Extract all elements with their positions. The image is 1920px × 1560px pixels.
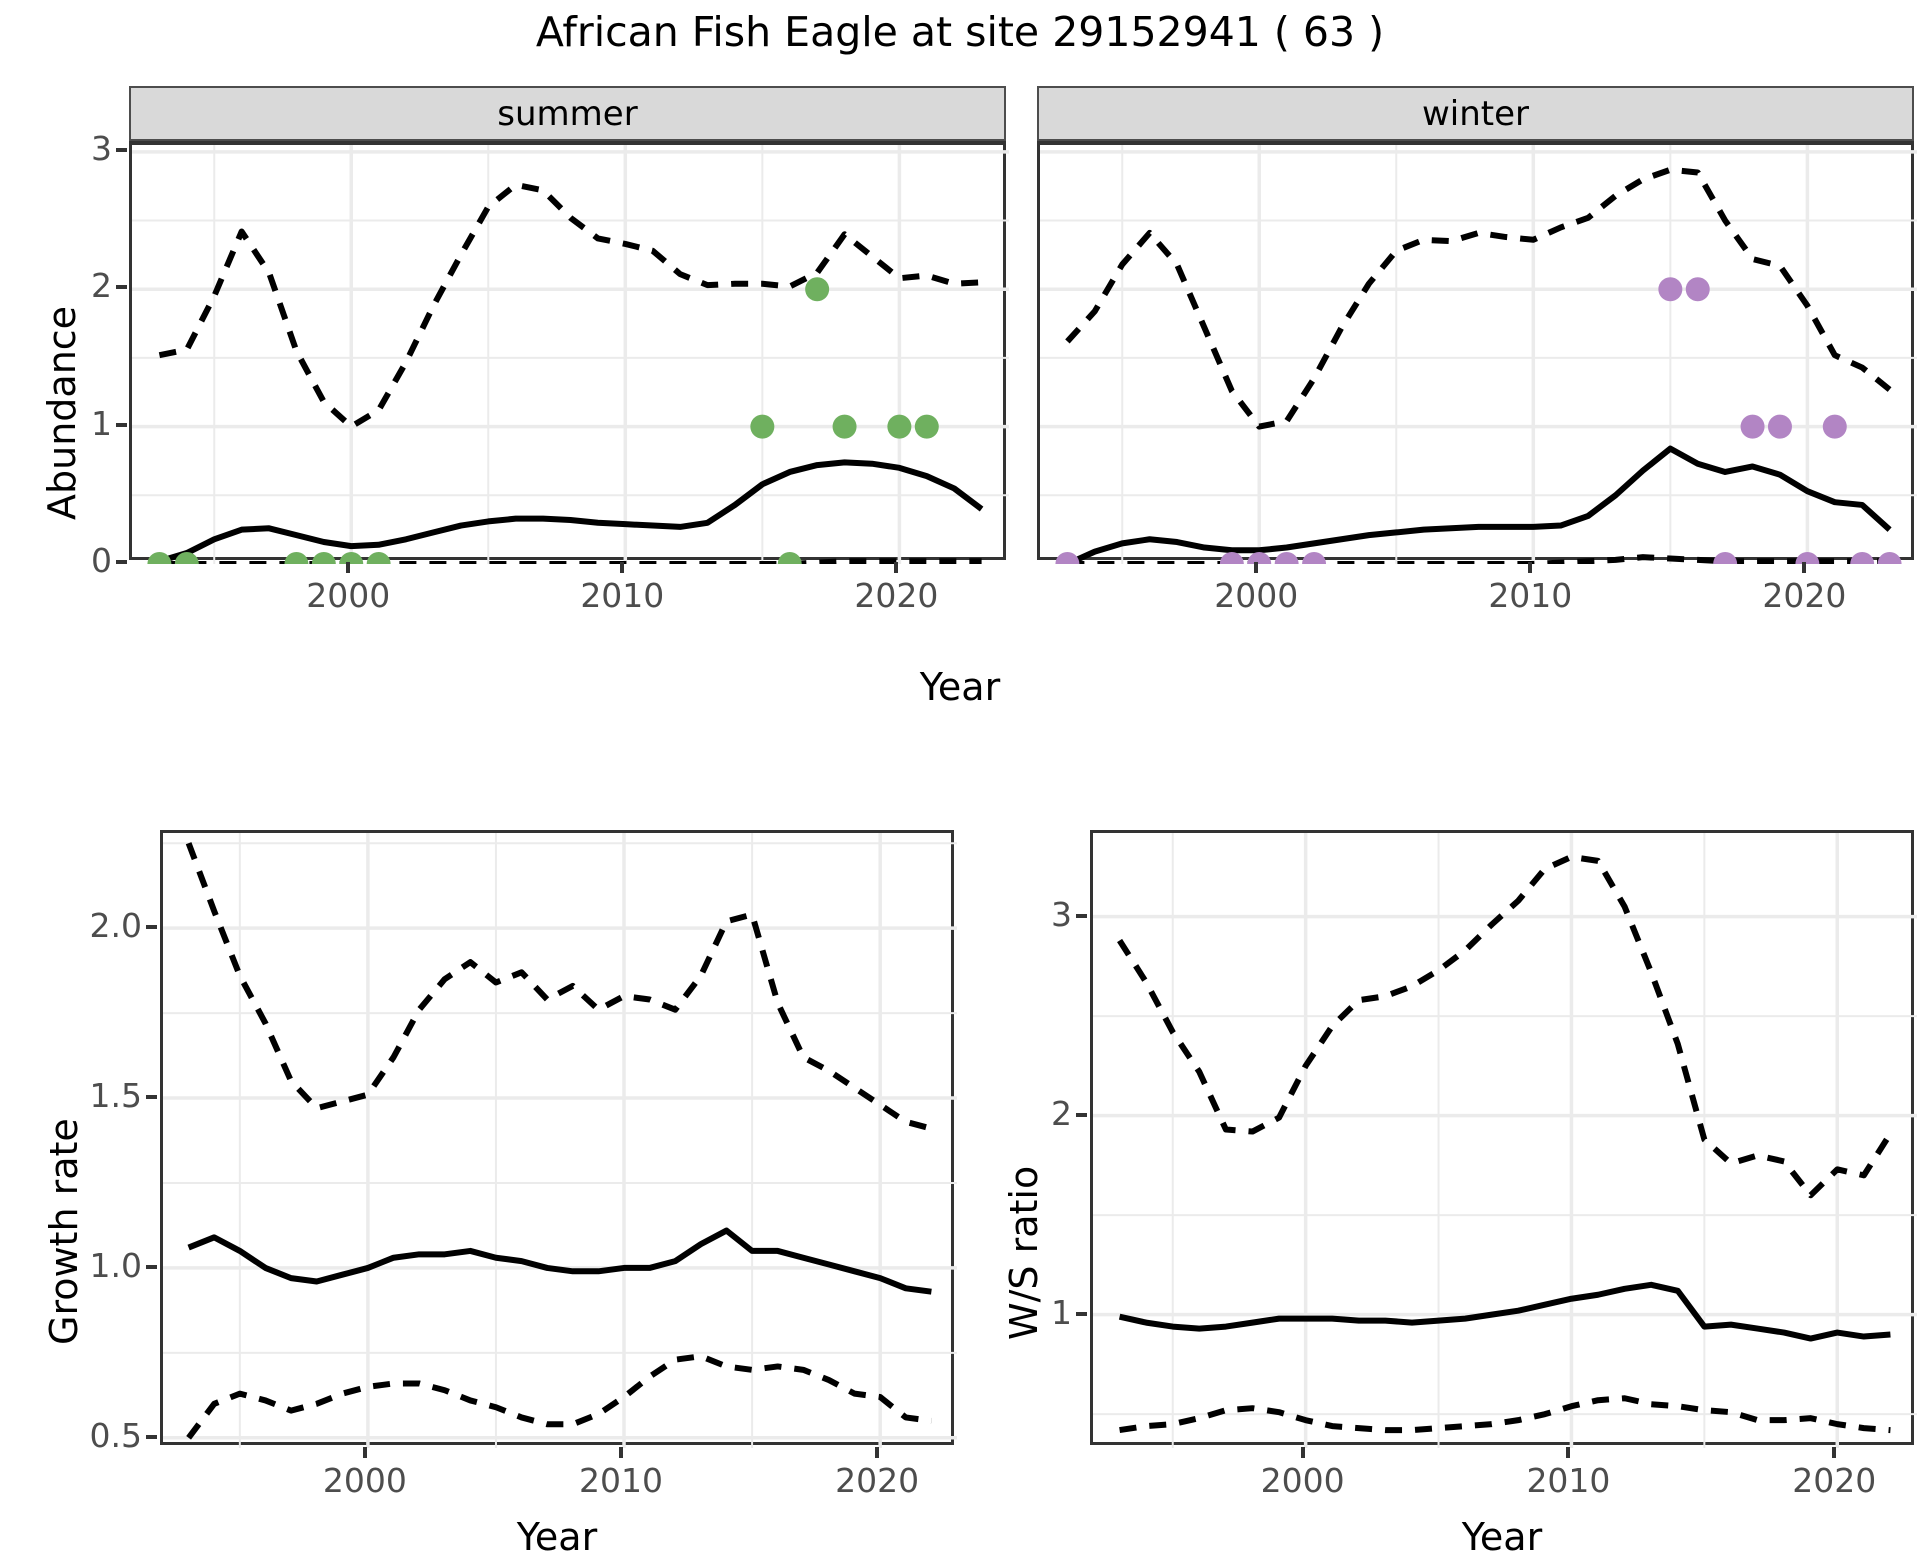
data-point: [1055, 552, 1079, 564]
data-point: [367, 552, 391, 564]
tick-mark: [1076, 1113, 1087, 1117]
tick-mark: [1566, 1447, 1570, 1458]
tick-label: 1.5: [72, 1076, 142, 1115]
tick-label: 2: [68, 266, 112, 305]
tick-mark: [116, 560, 127, 564]
data-point: [1878, 552, 1902, 564]
data-point: [1741, 415, 1765, 439]
tick-label: 2000: [288, 576, 408, 615]
tick-label: 2020: [817, 1461, 937, 1500]
growth-rate-plot: [160, 830, 954, 1445]
tick-mark: [116, 148, 127, 152]
tick-label: 2.0: [72, 906, 142, 945]
growth-rate-figure: Growth rate 0.51.01.52.0 200020102020 Ye…: [0, 800, 960, 1560]
data-point: [312, 552, 336, 564]
tick-mark: [146, 925, 157, 929]
tick-mark: [116, 423, 127, 427]
strip-summer-label: summer: [497, 94, 637, 134]
data-point: [778, 552, 802, 564]
strip-winter-label: winter: [1422, 94, 1529, 134]
data-point: [1768, 415, 1792, 439]
abundance-summer-svg: [132, 145, 1009, 564]
tick-mark: [875, 1447, 879, 1458]
tick-label: 2010: [1508, 1461, 1628, 1500]
data-point: [284, 552, 308, 564]
data-point: [1686, 277, 1710, 301]
data-point: [1220, 552, 1244, 564]
series-median-trend: [1067, 449, 1889, 564]
series-upper-credible-interval: [1120, 857, 1891, 1195]
series-lower-credible-interval: [1067, 557, 1889, 564]
tick-mark: [894, 562, 898, 573]
abundance-winter-plot: [1037, 141, 1914, 560]
tick-mark: [363, 1447, 367, 1458]
tick-mark: [1802, 562, 1806, 573]
tick-mark: [1254, 562, 1258, 573]
series-median-trend: [159, 462, 981, 561]
tick-label: 2020: [1744, 576, 1864, 615]
tick-mark: [116, 285, 127, 289]
data-point: [339, 552, 363, 564]
tick-label: 3: [68, 129, 112, 168]
data-point: [1247, 552, 1271, 564]
abundance-winter-svg: [1040, 145, 1917, 564]
abundance-figure: Abundance 0123 summer winter 20002010202…: [0, 60, 1920, 780]
tick-mark: [1076, 1312, 1087, 1316]
tick-mark: [346, 562, 350, 573]
tick-label: 0.5: [72, 1416, 142, 1455]
tick-mark: [146, 1435, 157, 1439]
series-lower-credible-interval: [189, 1356, 932, 1438]
tick-label: 2020: [836, 576, 956, 615]
ws-ratio-x-axis-title: Year: [1090, 1515, 1914, 1559]
data-point: [1795, 552, 1819, 564]
tick-label: 1: [1032, 1293, 1072, 1332]
data-point: [915, 415, 939, 439]
tick-mark: [1301, 1447, 1305, 1458]
tick-label: 2000: [305, 1461, 425, 1500]
data-point: [1275, 552, 1299, 564]
abundance-summer-plot: [129, 141, 1006, 560]
tick-mark: [619, 1447, 623, 1458]
data-point: [147, 552, 171, 564]
series-upper-credible-interval: [189, 843, 932, 1128]
tick-label: 3: [1032, 895, 1072, 934]
tick-mark: [146, 1265, 157, 1269]
abundance-x-axis-title: Year: [0, 665, 1920, 709]
tick-label: 2000: [1243, 1461, 1363, 1500]
data-point: [833, 415, 857, 439]
data-point: [1850, 552, 1874, 564]
tick-label: 2010: [562, 576, 682, 615]
tick-label: 2000: [1196, 576, 1316, 615]
tick-label: 1: [68, 404, 112, 443]
tick-mark: [146, 1095, 157, 1099]
strip-winter: winter: [1037, 86, 1914, 141]
series-median-trend: [1120, 1285, 1891, 1339]
data-point: [1713, 552, 1737, 564]
tick-label: 0: [68, 541, 112, 580]
page-title: African Fish Eagle at site 29152941 ( 63…: [0, 8, 1920, 56]
strip-summer: summer: [129, 86, 1006, 141]
series-median-trend: [189, 1231, 932, 1292]
tick-label: 2020: [1774, 1461, 1894, 1500]
data-point: [805, 277, 829, 301]
ws-ratio-plot: [1090, 830, 1914, 1445]
growth-rate-svg: [163, 833, 957, 1448]
data-point: [887, 415, 911, 439]
data-point: [1823, 415, 1847, 439]
ws-ratio-figure: W/S ratio 123 200020102020 Year: [960, 800, 1920, 1560]
tick-mark: [1832, 1447, 1836, 1458]
series-lower-credible-interval: [159, 561, 981, 564]
growth-rate-y-axis-title: Growth rate: [42, 1118, 86, 1345]
tick-mark: [1076, 914, 1087, 918]
tick-mark: [620, 562, 624, 573]
tick-label: 2010: [561, 1461, 681, 1500]
tick-label: 2: [1032, 1094, 1072, 1133]
data-point: [1302, 552, 1326, 564]
series-upper-credible-interval: [1067, 170, 1889, 427]
ws-ratio-svg: [1093, 833, 1917, 1448]
growth-rate-x-axis-title: Year: [160, 1515, 954, 1559]
tick-label: 2010: [1470, 576, 1590, 615]
data-point: [1658, 277, 1682, 301]
tick-label: 1.0: [72, 1246, 142, 1285]
data-point: [750, 415, 774, 439]
tick-mark: [1528, 562, 1532, 573]
